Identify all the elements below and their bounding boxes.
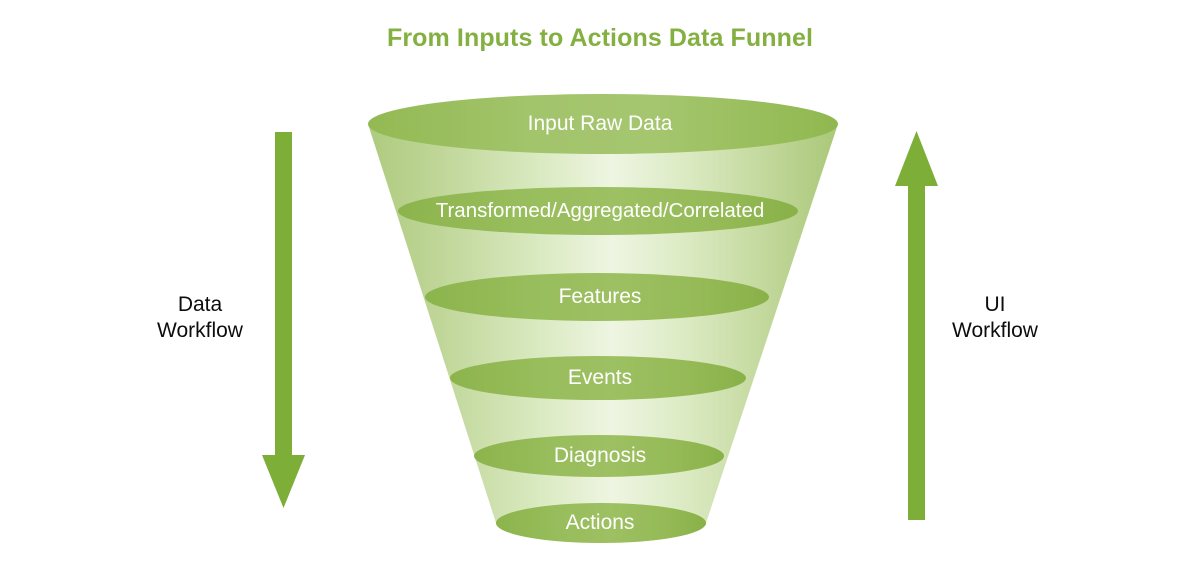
data-workflow-label: Data Workflow — [85, 292, 315, 344]
stage-label-diagnosis: Diagnosis — [0, 444, 1200, 468]
data-workflow-label-line2: Workflow — [85, 318, 315, 344]
funnel-body — [368, 124, 838, 543]
stage-label-transformed-aggregated-correlated: Transformed/Aggregated/Correlated — [0, 199, 1200, 223]
data-workflow-label-line1: Data — [85, 292, 315, 318]
stage-label-actions: Actions — [0, 511, 1200, 535]
ui-workflow-label: UI Workflow — [880, 292, 1110, 344]
diagram-canvas: From Inputs to Actions Data Funnel — [0, 0, 1200, 575]
page-title: From Inputs to Actions Data Funnel — [0, 22, 1200, 54]
funnel-stage-bands — [368, 94, 838, 543]
stage-label-input-raw-data: Input Raw Data — [0, 112, 1200, 136]
ui-workflow-label-line1: UI — [880, 292, 1110, 318]
stage-label-events: Events — [0, 366, 1200, 390]
ui-workflow-label-line2: Workflow — [880, 318, 1110, 344]
